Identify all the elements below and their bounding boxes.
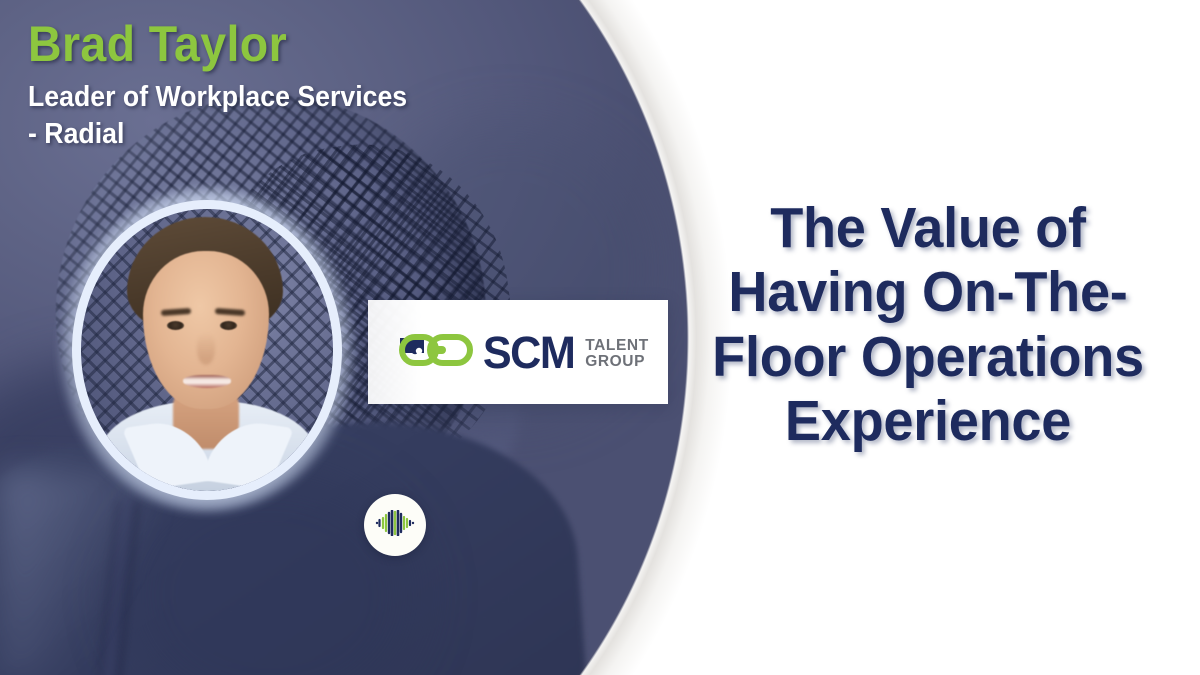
- avatar-mouth: [183, 375, 231, 388]
- episode-cover: Brad Taylor Leader of Workplace Services…: [0, 0, 1200, 675]
- logo-primary-text: SCM: [483, 330, 574, 375]
- audio-waveform-icon: [375, 510, 415, 541]
- logo-group-text: GROUP: [585, 354, 649, 370]
- avatar-eye-left: [167, 321, 184, 330]
- avatar-nose: [197, 333, 215, 365]
- logo-secondary-text: TALENT GROUP: [585, 335, 649, 369]
- speaker-role: Leader of Workplace Services - Radial: [28, 79, 543, 153]
- speaker-info: Brad Taylor Leader of Workplace Services…: [28, 18, 588, 153]
- chain-link-icon: [398, 332, 474, 373]
- avatar-eye-right: [220, 321, 237, 330]
- avatar-ring: [72, 200, 342, 500]
- logo-lockup: SCM TALENT GROUP: [398, 330, 649, 375]
- logo-banner[interactable]: SCM TALENT GROUP: [368, 300, 668, 404]
- speaker-name: Brad Taylor: [28, 18, 549, 71]
- episode-title: The Value of Having On-The-Floor Operati…: [685, 196, 1171, 454]
- logo-talent-text: TALENT: [585, 338, 649, 354]
- audio-waveform-badge[interactable]: [364, 494, 426, 556]
- avatar-photo: [81, 209, 333, 491]
- speaker-avatar: [72, 200, 342, 500]
